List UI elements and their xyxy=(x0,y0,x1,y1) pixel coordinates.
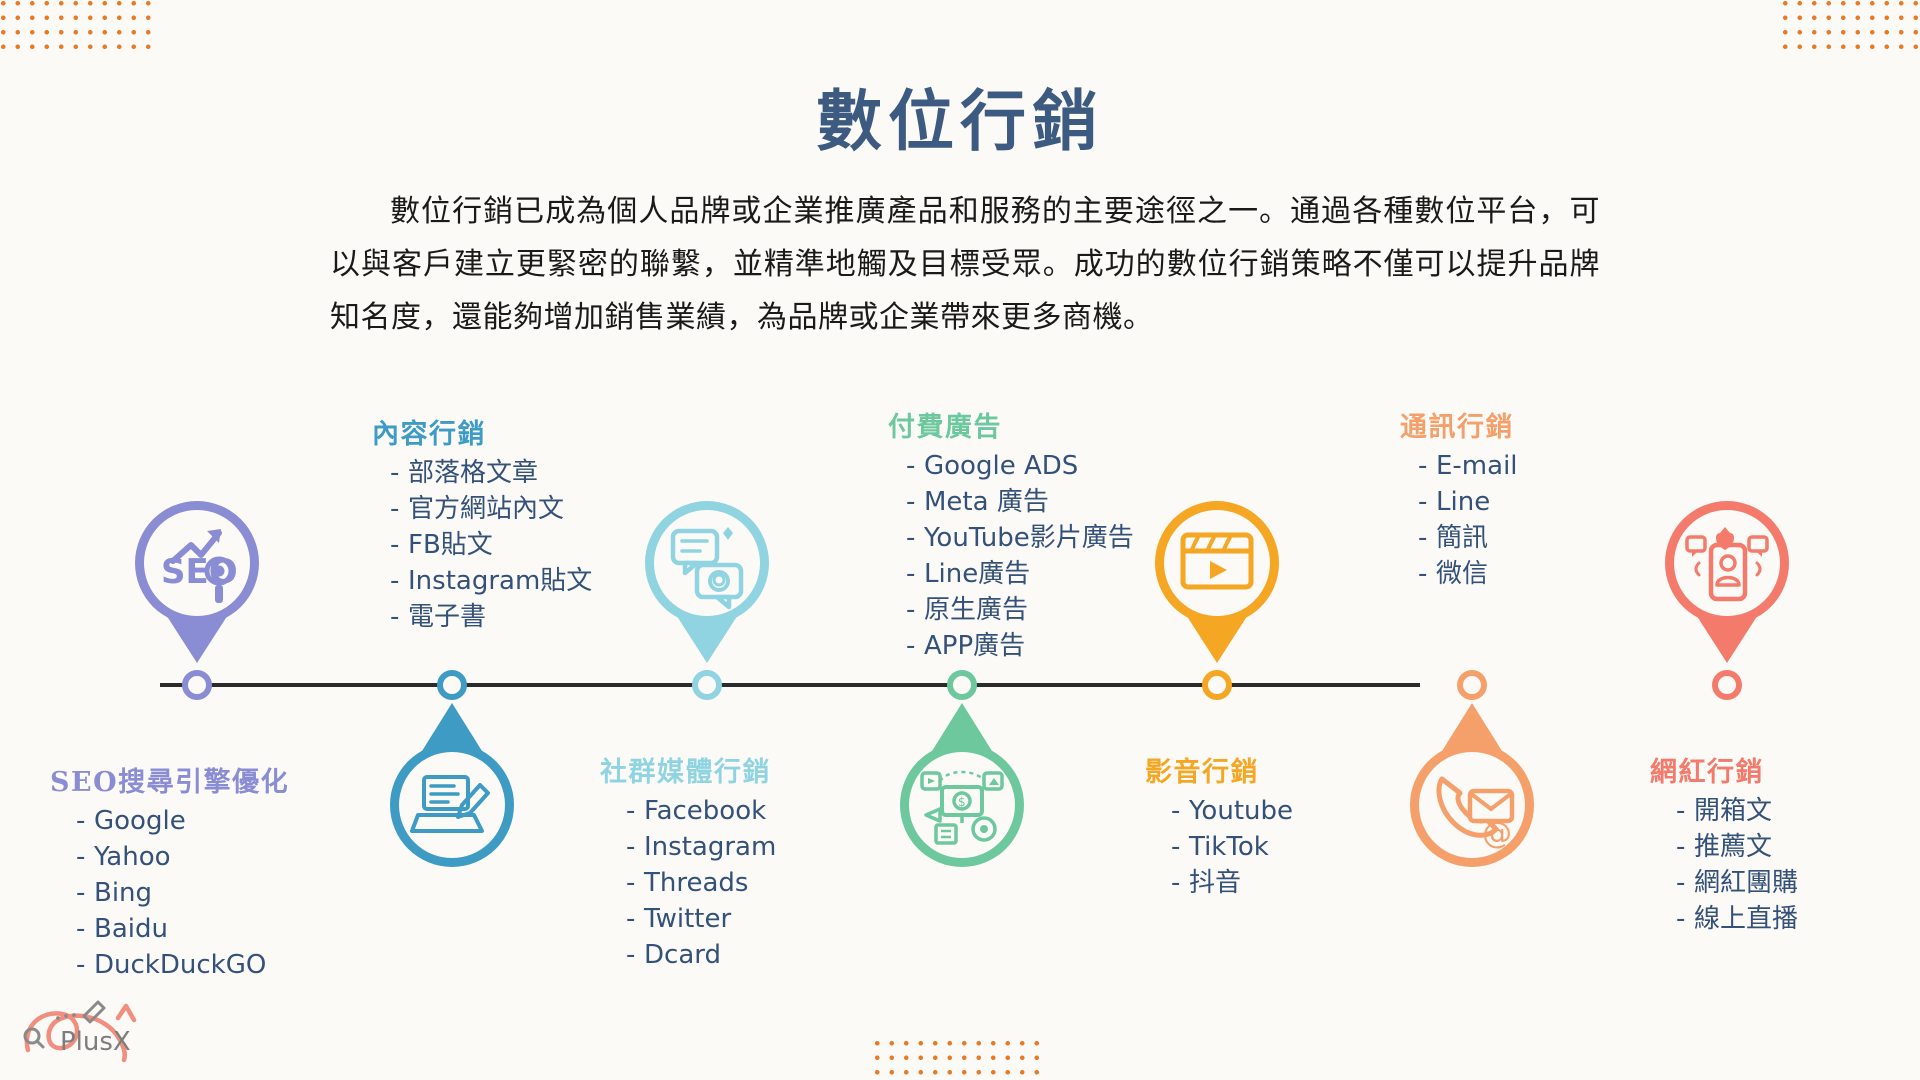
list-dash: - xyxy=(906,628,924,664)
timeline-node-dot-paidads[interactable] xyxy=(947,670,977,700)
list-item: -簡訊 xyxy=(1418,520,1518,556)
list-dash: - xyxy=(1676,865,1694,901)
plusx-logo-text: PlusX xyxy=(60,1027,131,1057)
plusx-logo-icon: PlusX xyxy=(14,988,154,1068)
list-dash: - xyxy=(906,556,924,592)
list-dash: - xyxy=(1418,520,1436,556)
svg-text:$: $ xyxy=(958,795,966,809)
node-heading-seo: SEO搜尋引擎優化 xyxy=(50,760,289,799)
node-heading-messaging: 通訊行銷 xyxy=(1400,405,1518,444)
list-dash: - xyxy=(390,599,408,635)
list-dash: - xyxy=(1418,484,1436,520)
list-dash: - xyxy=(1418,448,1436,484)
node-text-block-content: 內容行銷-部落格文章-官方網站內文-FB貼文-Instagram貼文-電子書 xyxy=(372,412,592,635)
node-text-block-social: 社群媒體行銷-Facebook-Instagram-Threads-Twitte… xyxy=(600,750,776,973)
list-item: -Meta 廣告 xyxy=(906,484,1134,520)
list-item: -Youtube xyxy=(1171,793,1293,829)
list-dash: - xyxy=(1171,865,1189,901)
list-item: -抖音 xyxy=(1171,865,1293,901)
page-title: 數位行銷 xyxy=(0,68,1920,164)
list-item: -Line廣告 xyxy=(906,556,1134,592)
list-dash: - xyxy=(906,592,924,628)
list-item: -TikTok xyxy=(1171,829,1293,865)
dot-pattern-top-left xyxy=(0,0,156,58)
list-item: -Line xyxy=(1418,484,1518,520)
list-dash: - xyxy=(906,448,924,484)
node-text-block-paidads: 付費廣告-Google ADS-Meta 廣告-YouTube影片廣告-Line… xyxy=(888,405,1134,664)
list-dash: - xyxy=(76,911,94,947)
intro-paragraph: 數位行銷已成為個人品牌或企業推廣產品和服務的主要途徑之一。通過各種數位平台，可以… xyxy=(330,185,1600,344)
node-text-block-video: 影音行銷-Youtube-TikTok-抖音 xyxy=(1145,750,1293,901)
list-item: -E-mail xyxy=(1418,448,1518,484)
list-dash: - xyxy=(390,527,408,563)
list-item: -Bing xyxy=(76,875,289,911)
list-item: -部落格文章 xyxy=(390,455,592,491)
node-heading-content: 內容行銷 xyxy=(372,412,592,451)
list-item: -Dcard xyxy=(626,937,776,973)
list-item: -APP廣告 xyxy=(906,628,1134,664)
node-text-block-messaging: 通訊行銷-E-mail-Line-簡訊-微信 xyxy=(1400,405,1518,592)
list-item: -微信 xyxy=(1418,556,1518,592)
badge-shape xyxy=(1410,703,1534,867)
list-dash: - xyxy=(1676,901,1694,937)
list-item: -官方網站內文 xyxy=(390,491,592,527)
list-dash: - xyxy=(1676,793,1694,829)
node-heading-paidads: 付費廣告 xyxy=(888,405,1134,444)
node-text-block-seo: SEO搜尋引擎優化-Google-Yahoo-Bing-Baidu-DuckDu… xyxy=(50,760,289,983)
node-heading-social: 社群媒體行銷 xyxy=(600,750,776,789)
circle-badge-marker-paidads[interactable]: $ xyxy=(887,697,1037,877)
node-item-list-paidads: -Google ADS-Meta 廣告-YouTube影片廣告-Line廣告-原… xyxy=(888,448,1134,664)
list-item: -推薦文 xyxy=(1676,829,1798,865)
circle-badge-marker-messaging[interactable]: @ xyxy=(1397,697,1547,877)
node-item-list-social: -Facebook-Instagram-Threads-Twitter-Dcar… xyxy=(600,793,776,973)
list-item: -Threads xyxy=(626,865,776,901)
list-dash: - xyxy=(626,829,644,865)
dot-pattern-bottom-center xyxy=(870,1036,1045,1078)
list-item: -DuckDuckGO xyxy=(76,947,289,983)
pin-shape xyxy=(1155,501,1279,663)
list-dash: - xyxy=(76,947,94,983)
map-pin-marker-social[interactable] xyxy=(637,495,777,675)
node-item-list-seo: -Google-Yahoo-Bing-Baidu-DuckDuckGO xyxy=(50,803,289,983)
list-dash: - xyxy=(76,839,94,875)
list-dash: - xyxy=(1171,829,1189,865)
list-dash: - xyxy=(626,865,644,901)
list-item: -FB貼文 xyxy=(390,527,592,563)
list-dash: - xyxy=(390,491,408,527)
list-dash: - xyxy=(906,520,924,556)
plusx-logo: PlusX xyxy=(14,988,154,1068)
node-item-list-influencer: -開箱文-推薦文-網紅團購-線上直播 xyxy=(1650,793,1798,937)
list-item: -Facebook xyxy=(626,793,776,829)
node-item-list-video: -Youtube-TikTok-抖音 xyxy=(1145,793,1293,901)
node-item-list-content: -部落格文章-官方網站內文-FB貼文-Instagram貼文-電子書 xyxy=(372,455,592,635)
list-item: -Google xyxy=(76,803,289,839)
list-item: -原生廣告 xyxy=(906,592,1134,628)
list-item: -YouTube影片廣告 xyxy=(906,520,1134,556)
list-dash: - xyxy=(1171,793,1189,829)
circle-badge-marker-content[interactable] xyxy=(377,697,527,877)
list-dash: - xyxy=(390,563,408,599)
list-dash: - xyxy=(626,901,644,937)
svg-text:@: @ xyxy=(1482,816,1512,851)
infographic-canvas: 數位行銷 數位行銷已成為個人品牌或企業推廣產品和服務的主要途徑之一。通過各種數位… xyxy=(0,0,1920,1080)
node-heading-influencer: 網紅行銷 xyxy=(1650,750,1798,789)
node-item-list-messaging: -E-mail-Line-簡訊-微信 xyxy=(1400,448,1518,592)
map-pin-marker-video[interactable] xyxy=(1147,495,1287,675)
pin-shape xyxy=(1665,501,1789,663)
list-dash: - xyxy=(626,937,644,973)
svg-text:SEO: SEO xyxy=(161,552,238,592)
map-pin-marker-seo[interactable]: SEO xyxy=(127,495,267,675)
map-pin-marker-influencer[interactable] xyxy=(1657,495,1797,675)
list-item: -Instagram xyxy=(626,829,776,865)
timeline-node-dot-messaging[interactable] xyxy=(1457,670,1487,700)
list-dash: - xyxy=(1676,829,1694,865)
list-item: -開箱文 xyxy=(1676,793,1798,829)
node-heading-video: 影音行銷 xyxy=(1145,750,1293,789)
pin-shape xyxy=(645,501,769,663)
list-item: -Baidu xyxy=(76,911,289,947)
list-item: -Instagram貼文 xyxy=(390,563,592,599)
list-item: -Google ADS xyxy=(906,448,1134,484)
list-dash: - xyxy=(76,875,94,911)
timeline-node-dot-content[interactable] xyxy=(437,670,467,700)
list-item: -電子書 xyxy=(390,599,592,635)
list-dash: - xyxy=(390,455,408,491)
list-item: -線上直播 xyxy=(1676,901,1798,937)
list-item: -Yahoo xyxy=(76,839,289,875)
dot-pattern-top-right xyxy=(1778,0,1920,58)
list-dash: - xyxy=(1418,556,1436,592)
list-item: -網紅團購 xyxy=(1676,865,1798,901)
list-dash: - xyxy=(76,803,94,839)
node-text-block-influencer: 網紅行銷-開箱文-推薦文-網紅團購-線上直播 xyxy=(1650,750,1798,937)
list-dash: - xyxy=(906,484,924,520)
list-item: -Twitter xyxy=(626,901,776,937)
list-dash: - xyxy=(626,793,644,829)
